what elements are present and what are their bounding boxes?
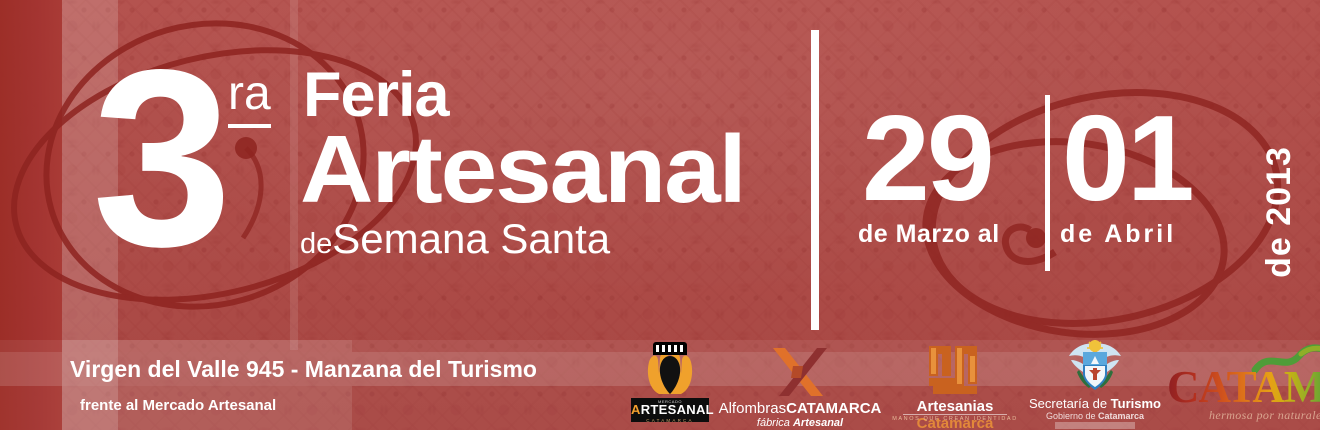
mid-light-band [290, 0, 298, 350]
logo-artesanias-catamarca[interactable]: Artesanias Catamarca MANOS QUE CREAN IDE… [885, 342, 1025, 430]
title-line-artesanal: Artesanal [300, 122, 745, 218]
venue-address: Virgen del Valle 945 - Manzana del Turis… [70, 357, 537, 381]
start-day: 29 [862, 98, 992, 218]
logo-line-1: AlfombrasCATAMARCA [715, 400, 885, 417]
logo-line-1-light: Secretaría de [1029, 396, 1111, 411]
logo-line-2: fábrica Artesanal [715, 417, 885, 430]
event-banner: 3 ra Feria Artesanal deSemana Santa 29 d… [0, 0, 1320, 430]
logo-line-2-light: Gobierno de [1046, 411, 1098, 421]
logo-line-2-light: fábrica [757, 417, 793, 429]
date-range-divider [1045, 95, 1050, 271]
geometric-motif-icon [925, 344, 983, 396]
title-date-divider [811, 30, 819, 330]
start-label: de Marzo al [858, 222, 1000, 247]
logo-sub-text: CATAMARCA [631, 418, 709, 424]
logo-line-1-bold: CATAMARCA [786, 400, 881, 417]
sponsor-logo-strip: MERCADO ARTESANAL CATAMARCA AlfombrasCAT… [625, 340, 1315, 430]
logo-line-2-bold: Catamarca [1098, 411, 1144, 421]
logo-sub-text: MANOS QUE CREAN IDENTIDAD [885, 415, 1025, 423]
end-label: de Abril [1060, 222, 1176, 247]
edition-number: 3 [92, 34, 222, 284]
subtitle-main: Semana Santa [332, 215, 610, 262]
logo-line-1: Secretaría de Turismo [1025, 396, 1165, 411]
title-subtitle: deSemana Santa [300, 218, 610, 265]
logo-name-accent: A [631, 402, 641, 417]
subtitle-prefix: de [300, 228, 332, 260]
logo-bottom-bar [1055, 422, 1135, 429]
logo-line-1-light: Alfombras [719, 400, 787, 417]
edition-suffix: ra [228, 70, 271, 128]
logo-name-rest: RTESANAL [641, 402, 714, 417]
crossed-bars-icon [767, 346, 829, 398]
hat-pattern [656, 345, 684, 352]
logo-mercado-artesanal[interactable]: MERCADO ARTESANAL CATAMARCA [625, 342, 715, 430]
venue-reference: frente al Mercado Artesanal [80, 398, 276, 414]
logo-name-white: Artesanias [917, 398, 994, 415]
logo-line-1-bold: Turismo [1111, 396, 1161, 411]
logo-secretaria-turismo[interactable]: Secretaría de Turismo Gobierno de Catama… [1025, 340, 1165, 430]
coat-of-arms-icon [1065, 340, 1125, 396]
logo-line-2: Gobierno de Catamarca [1025, 411, 1165, 422]
logo-wordmark: CATAMARCA [1167, 364, 1320, 410]
footer-left-box-2 [62, 340, 352, 352]
year-label: de 2013 [1262, 127, 1296, 297]
logo-name: ARTESANAL [631, 403, 709, 417]
logo-line-2-bold: Artesanal [793, 417, 843, 429]
logo-alfombras-catamarca[interactable]: AlfombrasCATAMARCA fábrica Artesanal [715, 342, 885, 430]
logo-tagline: hermosa por naturaleza [1209, 408, 1320, 422]
end-day: 01 [1062, 98, 1192, 218]
logo-catamarca-marca[interactable]: CATAMARCA hermosa por naturaleza [1165, 342, 1320, 430]
